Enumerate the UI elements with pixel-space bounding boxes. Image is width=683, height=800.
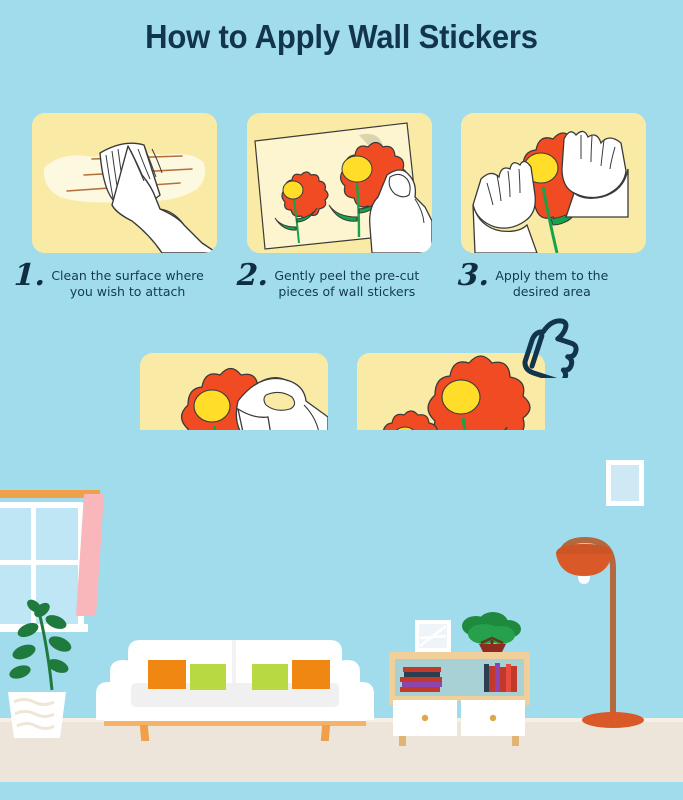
step-illustration-2 bbox=[247, 113, 432, 253]
step-caption-3: 3. Apply them to the desired area bbox=[458, 261, 658, 299]
room-scene bbox=[0, 430, 683, 800]
page-title: How to Apply Wall Stickers bbox=[20, 18, 662, 56]
wall-picture-frame bbox=[606, 460, 644, 506]
step-text-2: Gently peel the pre-cut pieces of wall s… bbox=[274, 261, 419, 299]
sofa-graphic bbox=[96, 640, 374, 741]
step-number-3: 3. bbox=[457, 261, 490, 291]
step-number-1: 1. bbox=[13, 261, 46, 291]
console-picture-frame bbox=[415, 620, 451, 652]
step-caption-1: 1. Clean the surface where you wish to a… bbox=[14, 261, 229, 299]
thumbs-up-icon bbox=[519, 316, 589, 378]
step-text-3: Apply them to the desired area bbox=[495, 261, 608, 299]
step-caption-2: 2. Gently peel the pre-cut pieces of wal… bbox=[237, 261, 447, 299]
step-illustration-3 bbox=[461, 113, 646, 253]
step-illustration-1 bbox=[32, 113, 217, 253]
step-number-2: 2. bbox=[236, 261, 269, 291]
infographic-root: How to Apply Wall Stickers bbox=[0, 0, 683, 800]
step-text-1: Clean the surface where you wish to atta… bbox=[51, 261, 204, 299]
window-graphic bbox=[0, 490, 104, 632]
